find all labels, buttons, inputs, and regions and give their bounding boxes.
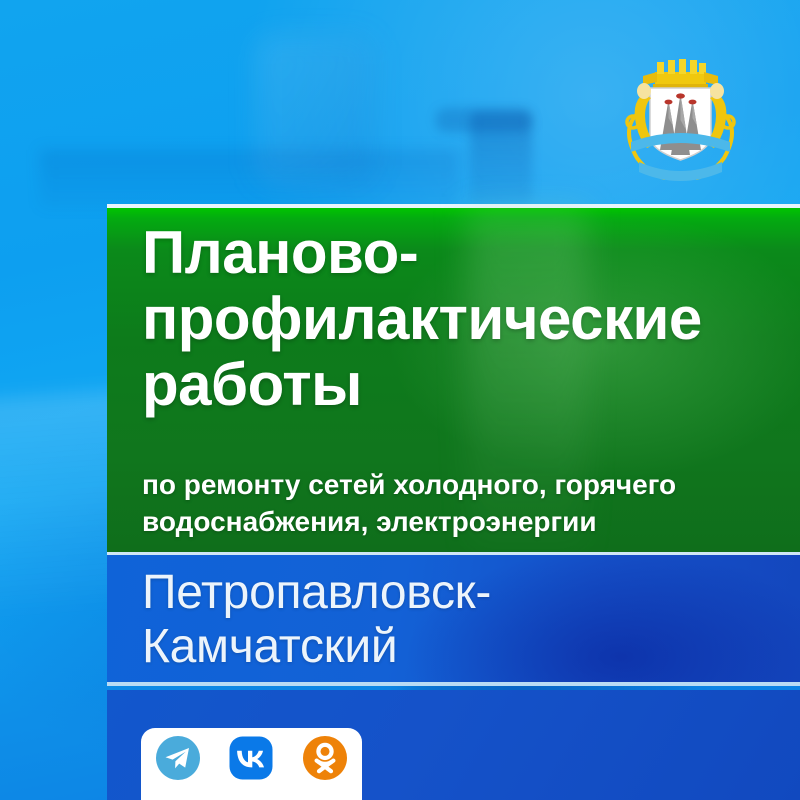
coat-of-arms-icon: Герб Петропавловска-Камчатского bbox=[613, 58, 748, 188]
faucet-body-blur bbox=[255, 35, 375, 185]
page-title-line-3: работы bbox=[142, 352, 762, 418]
page-title-line-2: профилактические bbox=[142, 286, 762, 352]
faucet-spout-blur bbox=[470, 112, 532, 204]
page-title-line-1: Планово- bbox=[142, 220, 762, 286]
telegram-icon[interactable]: Telegram bbox=[155, 735, 201, 781]
poster-root: Герб Петропавловска-Камчатского Планово-… bbox=[0, 0, 800, 800]
page-subtitle: по ремонту сетей холодного, горячего вод… bbox=[142, 466, 782, 540]
ok-icon[interactable]: Одноклассники bbox=[302, 735, 348, 781]
vk-label: ВКонтакте bbox=[228, 781, 229, 782]
page-subtitle-line-2: водоснабжения, электроэнергии bbox=[142, 503, 782, 540]
page-subtitle-line-1: по ремонту сетей холодного, горячего bbox=[142, 466, 782, 503]
ok-label: Одноклассники bbox=[302, 781, 303, 782]
vk-icon[interactable]: ВКонтакте bbox=[228, 735, 274, 781]
background-counter-blur bbox=[40, 150, 460, 208]
telegram-label: Telegram bbox=[155, 781, 156, 782]
social-links-card: Telegram ВКонтакте Одноклассники bbox=[141, 728, 362, 800]
city-name-line-2: Камчатский bbox=[142, 620, 762, 674]
city-name: Петропавловск- Камчатский bbox=[142, 566, 762, 674]
social-links-row: Telegram ВКонтакте Одноклассники bbox=[141, 735, 362, 781]
page-title: Планово- профилактические работы bbox=[142, 220, 762, 418]
city-name-line-1: Петропавловск- bbox=[142, 566, 762, 620]
city-panel-bottom-divider bbox=[107, 682, 800, 686]
